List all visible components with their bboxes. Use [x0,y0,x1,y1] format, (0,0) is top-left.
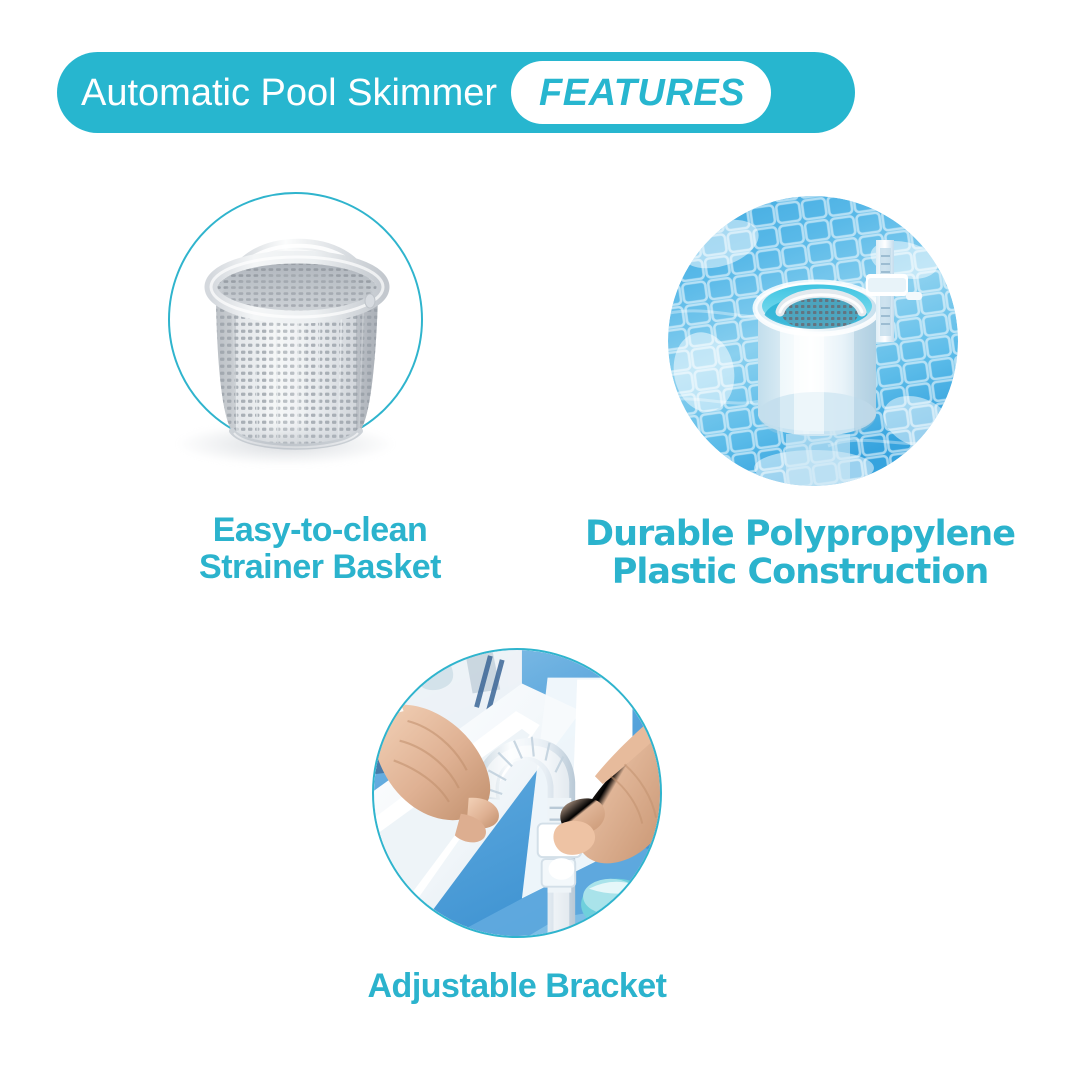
feature-2-caption: Durable Polypropylene Plastic Constructi… [565,516,1035,592]
feature-1-caption: Easy-to-clean Strainer Basket [105,512,535,585]
feature-3-caption: Adjustable Bracket [292,968,742,1005]
strainer-basket-icon [170,195,430,495]
pool-skimmer-icon [668,196,958,486]
header-banner: Automatic Pool Skimmer FEATURES [57,52,855,133]
feature-3-circle-photo [372,648,662,938]
page-title: Automatic Pool Skimmer [81,74,497,112]
basket-shadow [178,423,393,465]
adjustable-bracket-icon [374,650,660,936]
features-badge-label: FEATURES [539,74,745,112]
feature-2-circle-photo [668,196,958,486]
features-badge: FEATURES [511,61,771,124]
